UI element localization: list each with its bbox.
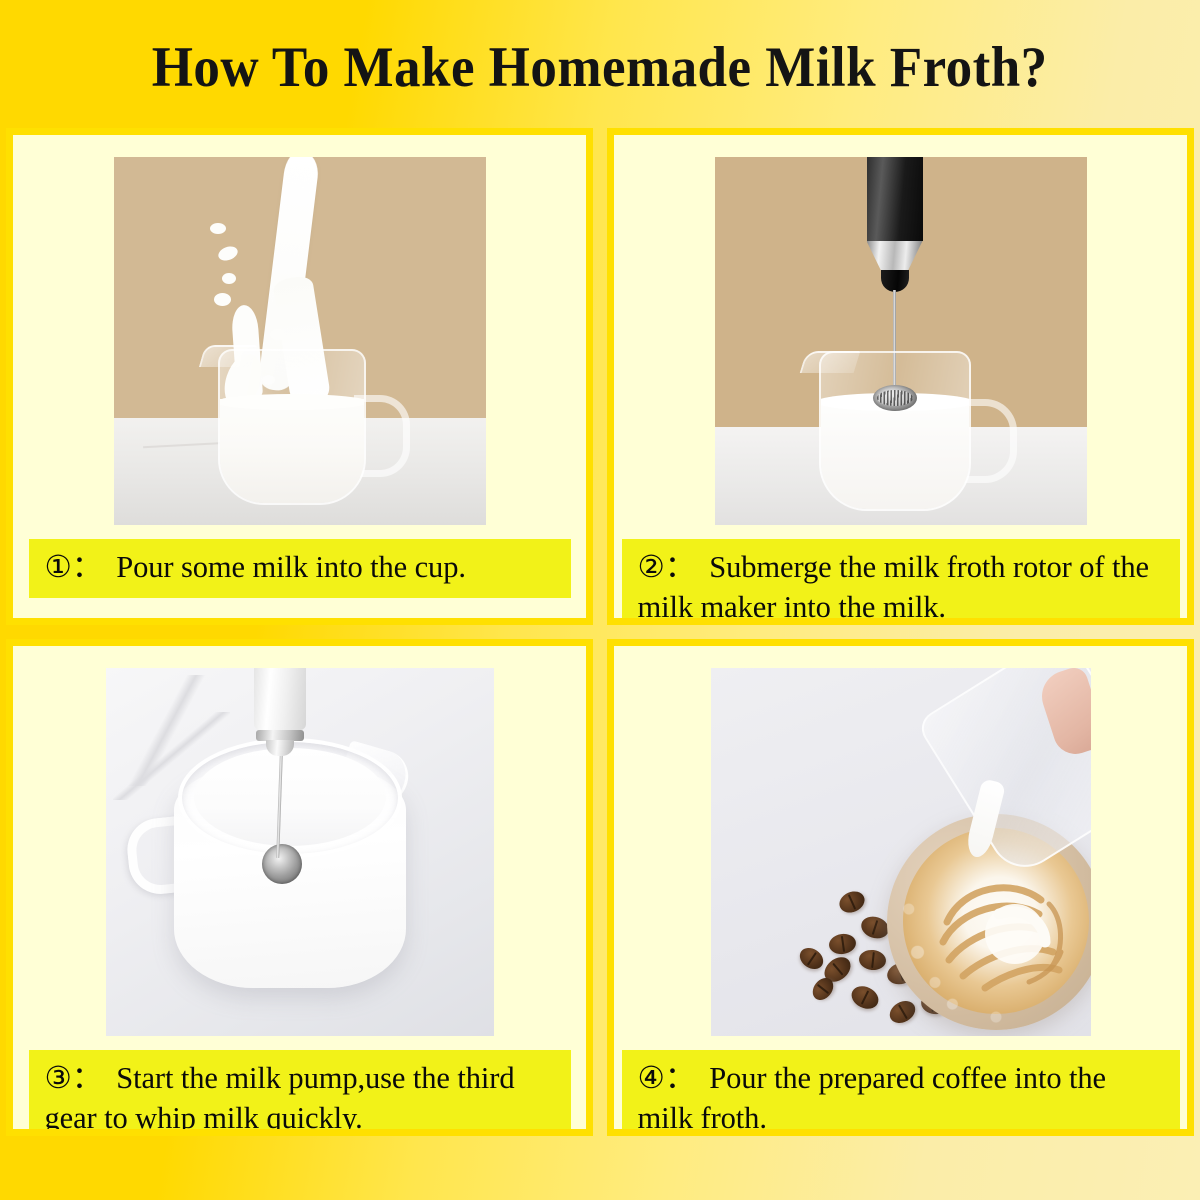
glass-pitcher: [819, 351, 971, 511]
step-2-photo: [715, 157, 1087, 525]
step-1-number: ①: [45, 550, 72, 584]
step-2-number: ②: [638, 550, 665, 584]
step-3-caption: ③：Start the milk pump,use the third gear…: [29, 1050, 571, 1136]
milk-fill: [220, 399, 364, 503]
milk-surface: [194, 748, 386, 846]
milk-droplet: [270, 329, 285, 340]
frother-whisk-coil: [873, 385, 917, 411]
step-card-4: ④：Pour the prepared coffee into the milk…: [607, 639, 1194, 1136]
milk-fill: [821, 399, 969, 509]
step-4-text: Pour the prepared coffee into the milk f…: [638, 1061, 1106, 1135]
milk-droplet: [214, 293, 231, 306]
latte-art-rosetta: [929, 856, 1079, 1006]
step-2-separator: ：: [665, 550, 695, 584]
glass-pitcher: [218, 349, 366, 505]
step-card-2: ②：Submerge the milk froth rotor of the m…: [607, 128, 1194, 625]
step-card-1: ①：Pour some milk into the cup.: [6, 128, 593, 625]
step-3-number: ③: [45, 1061, 72, 1095]
milk-droplet: [222, 273, 236, 284]
step-2-text: Submerge the milk froth rotor of the mil…: [638, 550, 1149, 624]
frother-body: [254, 668, 306, 730]
milk-droplet: [210, 223, 226, 234]
step-4-separator: ：: [665, 1061, 695, 1095]
step-1-separator: ：: [72, 550, 102, 584]
step-4-photo: [711, 668, 1091, 1036]
step-1-text: Pour some milk into the cup.: [116, 550, 466, 584]
steps-grid: ①：Pour some milk into the cup. ②：Submerg…: [0, 128, 1200, 1158]
latte-crema: [903, 828, 1089, 1014]
step-3-photo: [106, 668, 494, 1036]
step-3-text: Start the milk pump,use the third gear t…: [45, 1061, 515, 1135]
step-2-caption: ②：Submerge the milk froth rotor of the m…: [622, 539, 1180, 625]
step-4-number: ④: [638, 1061, 665, 1095]
page-header: How To Make Homemade Milk Froth?: [0, 0, 1200, 128]
frother-body: [867, 157, 923, 241]
step-3-separator: ：: [72, 1061, 102, 1095]
step-1-caption: ①：Pour some milk into the cup.: [29, 539, 571, 598]
step-1-photo: [114, 157, 486, 525]
step-4-caption: ④：Pour the prepared coffee into the milk…: [622, 1050, 1180, 1136]
page-title: How To Make Homemade Milk Froth?: [152, 35, 1048, 100]
step-card-3: ③：Start the milk pump,use the third gear…: [6, 639, 593, 1136]
frother-whisk-coil: [262, 844, 302, 884]
